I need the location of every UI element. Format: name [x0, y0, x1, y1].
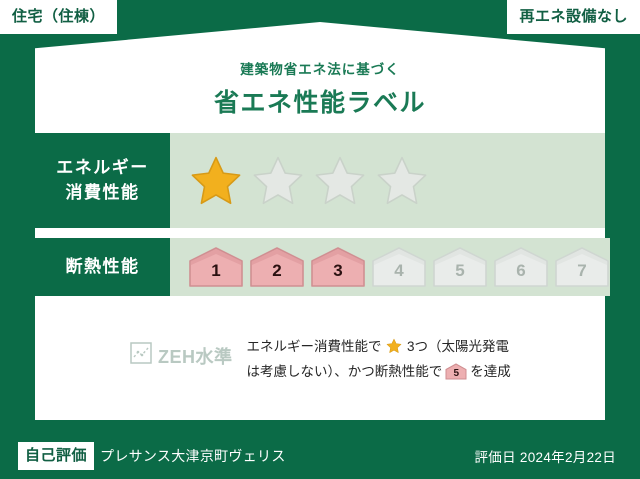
zeh-desc-line1-part2: 3つ（太陽光発電 — [407, 339, 509, 354]
star-filled-icon — [188, 154, 244, 208]
energy-performance-label-line1: エネルギー — [56, 156, 149, 181]
inline-star-icon — [383, 342, 407, 357]
insulation-step: 5 — [432, 246, 488, 288]
insulation-step-value: 3 — [333, 262, 342, 288]
insulation-step: 6 — [493, 246, 549, 288]
footer-left-group: 自己評価 プレサンス大津京町ヴェリス — [0, 442, 286, 470]
evaluation-date: 評価日 2024年2月22日 — [474, 446, 640, 466]
label-subtitle: 建築物省エネ法に基づく — [0, 58, 640, 78]
star-empty-icon — [374, 154, 430, 208]
insulation-performance-value: 1234567 — [170, 238, 610, 296]
insulation-performance-label: 断熱性能 — [35, 238, 170, 296]
star-rating — [188, 154, 430, 208]
star-empty-icon — [250, 154, 306, 208]
insulation-step-scale: 1234567 — [188, 246, 610, 288]
label-title: 建築物省エネ法に基づく 省エネ性能ラベル — [0, 58, 640, 119]
inline-insulation-badge-value: 5 — [445, 369, 467, 379]
insulation-step-value: 6 — [516, 262, 525, 288]
insulation-step-value: 4 — [394, 262, 403, 288]
zeh-description: エネルギー消費性能で 3つ（太陽光発電 は考慮しない）、かつ断熱性能で 5 を達… — [233, 336, 606, 384]
zeh-brand: ZEH水準 — [35, 336, 233, 369]
zeh-note: ZEH水準 エネルギー消費性能で 3つ（太陽光発電 は考慮しない）、かつ断熱性能… — [35, 336, 605, 384]
insulation-performance-row: 断熱性能 1234567 — [35, 238, 605, 296]
zeh-desc-line2-part1: は考慮しない）、かつ断熱性能で — [247, 364, 443, 379]
evaluation-type-badge: 自己評価 — [18, 442, 94, 470]
zeh-description-line1: エネルギー消費性能で 3つ（太陽光発電 — [247, 336, 606, 361]
insulation-step: 1 — [188, 246, 244, 288]
inline-insulation-badge: 5 — [445, 363, 467, 380]
building-name: プレサンス大津京町ヴェリス — [100, 446, 286, 466]
label-footer: 自己評価 プレサンス大津京町ヴェリス 評価日 2024年2月22日 — [0, 432, 640, 479]
zeh-description-line2: は考慮しない）、かつ断熱性能で 5 を達成 — [247, 361, 606, 383]
building-type-badge: 住宅（住棟） — [0, 0, 117, 34]
insulation-step: 7 — [554, 246, 610, 288]
insulation-step-value: 5 — [455, 262, 464, 288]
energy-performance-label: 住宅（住棟） 再エネ設備なし 建築物省エネ法に基づく 省エネ性能ラベル エネルギ… — [0, 0, 640, 479]
zeh-chart-icon — [130, 342, 152, 369]
insulation-step: 4 — [371, 246, 427, 288]
insulation-step: 3 — [310, 246, 366, 288]
insulation-step-value: 7 — [577, 262, 586, 288]
insulation-step-value: 2 — [272, 262, 281, 288]
label-main-title: 省エネ性能ラベル — [0, 83, 640, 119]
insulation-step-value: 1 — [211, 262, 220, 288]
zeh-desc-line1-part1: エネルギー消費性能で — [247, 339, 382, 354]
energy-performance-value — [170, 133, 605, 228]
star-empty-icon — [312, 154, 368, 208]
zeh-desc-line2-part2: を達成 — [470, 364, 511, 379]
renewable-equipment-badge: 再エネ設備なし — [507, 0, 640, 34]
zeh-brand-label: ZEH水準 — [158, 343, 233, 369]
energy-performance-label-line2: 消費性能 — [66, 181, 140, 206]
insulation-step: 2 — [249, 246, 305, 288]
energy-performance-label: エネルギー 消費性能 — [35, 133, 170, 228]
energy-performance-row: エネルギー 消費性能 — [35, 133, 605, 228]
